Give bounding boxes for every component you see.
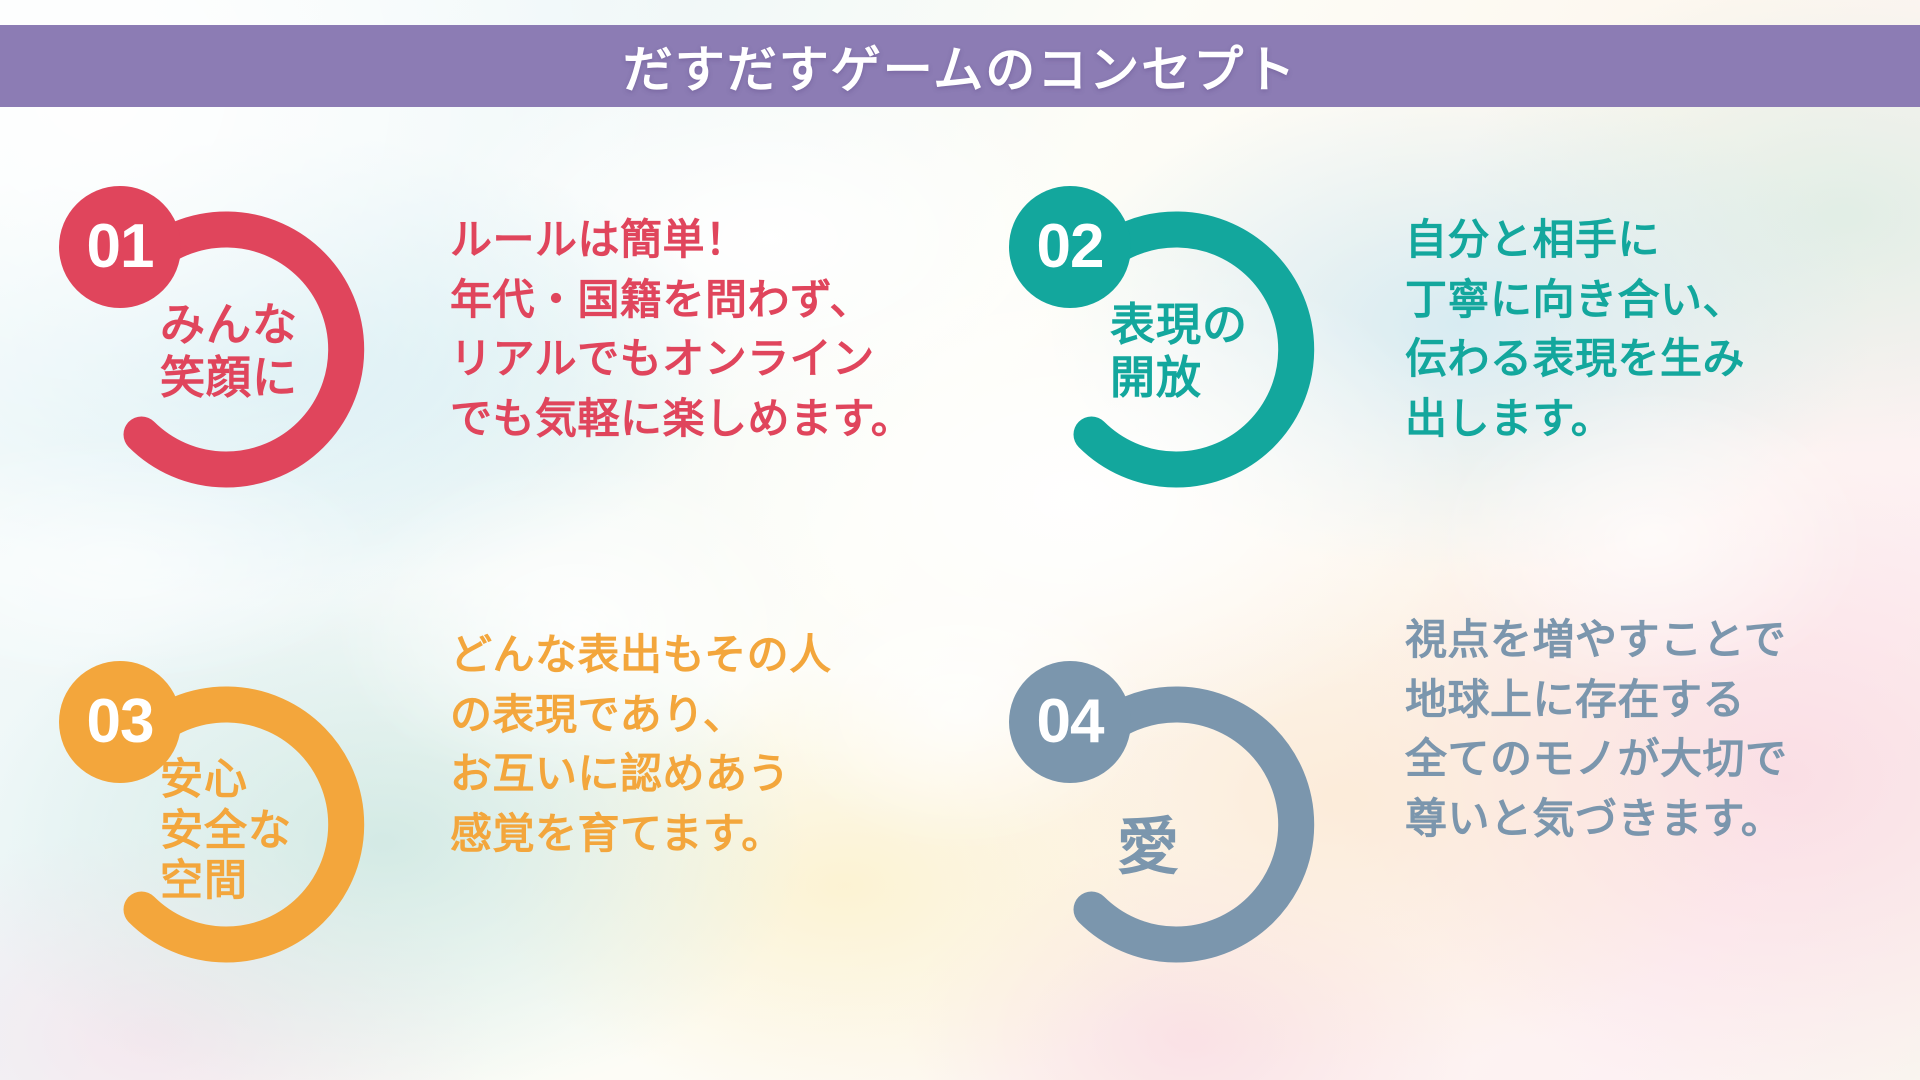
concept-body-03: どんな表出もその人 の表現であり、 お互いに認めあう 感覚を育てます。 [450, 625, 920, 864]
slide-canvas: だすだすゲームのコンセプト 01 みんな 笑顔に ルールは簡単！ 年代・国籍を問… [0, 0, 1920, 1080]
number-badge-label: 02 [1037, 216, 1104, 278]
ring-graphic-03: 03 安心 安全な 空間 [55, 655, 385, 985]
number-badge-01: 01 [59, 186, 181, 308]
concept-label-02: 表現の 開放 [1110, 298, 1310, 404]
ring-graphic-02: 02 表現の 開放 [1005, 180, 1335, 510]
concept-label-03: 安心 安全な 空間 [160, 755, 360, 907]
concept-item-02: 02 表現の 開放 自分と相手に 丁寧に向き合い、 伝わる表現を生み 出します。 [1005, 180, 1905, 510]
concept-body-04: 視点を増やすことで 地球上に存在する 全てのモノが大切で 尊いと気づきます。 [1405, 610, 1905, 849]
ring-graphic-01: 01 みんな 笑顔に [55, 180, 385, 510]
concept-body-02: 自分と相手に 丁寧に向き合い、 伝わる表現を生み 出します。 [1405, 210, 1905, 449]
number-badge-02: 02 [1009, 186, 1131, 308]
concept-item-01: 01 みんな 笑顔に ルールは簡単！ 年代・国籍を問わず、 リアルでもオンライン… [55, 180, 915, 510]
page-title: だすだすゲームのコンセプト [623, 30, 1298, 102]
ring-graphic-04: 04 愛 [1005, 655, 1335, 985]
number-badge-label: 01 [87, 216, 154, 278]
title-band: だすだすゲームのコンセプト [0, 25, 1920, 107]
concept-item-03: 03 安心 安全な 空間 どんな表出もその人 の表現であり、 お互いに認めあう … [55, 655, 915, 985]
concept-label-04: 愛 [1117, 811, 1317, 884]
concept-body-01: ルールは簡単！ 年代・国籍を問わず、 リアルでもオンライン でも気軽に楽しめます… [450, 210, 920, 449]
number-badge-label: 04 [1037, 691, 1104, 753]
number-badge-label: 03 [87, 691, 154, 753]
number-badge-04: 04 [1009, 661, 1131, 783]
concept-item-04: 04 愛 視点を増やすことで 地球上に存在する 全てのモノが大切で 尊いと気づき… [1005, 655, 1905, 985]
concept-label-01: みんな 笑顔に [160, 298, 360, 404]
